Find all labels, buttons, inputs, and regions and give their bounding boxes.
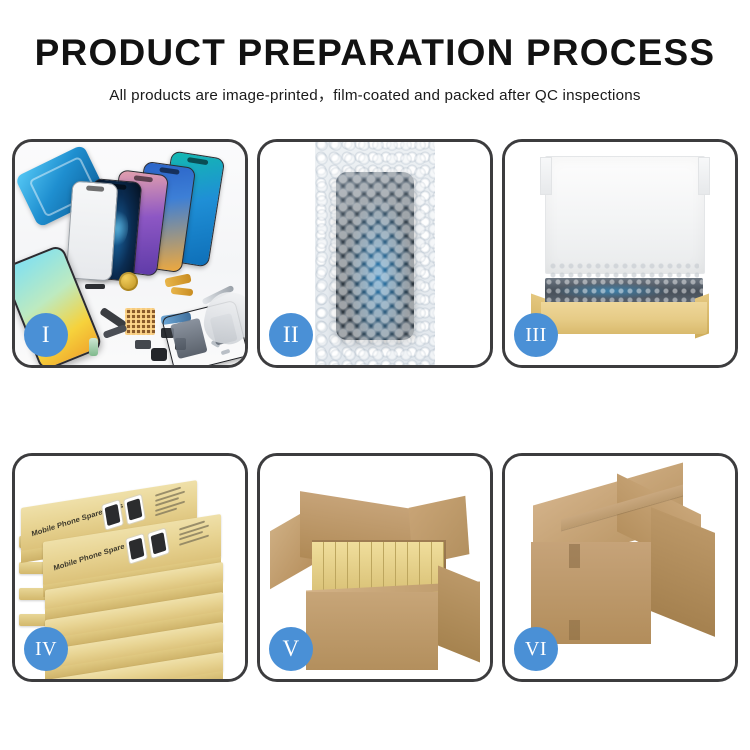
part-speaker-coil	[119, 272, 138, 291]
step-panel-1: I	[12, 139, 248, 368]
step-panel-2: II	[257, 139, 493, 368]
kraft-box-top-phone-image-2	[123, 493, 146, 525]
carton-front-face	[306, 592, 438, 670]
carton-seam-bottom	[569, 620, 580, 640]
page-subtitle: All products are image-printed，film-coat…	[0, 83, 750, 105]
kraft-box-second-phone-image-2	[147, 527, 170, 559]
product-preparation-infographic: PRODUCT PREPARATION PROCESS All products…	[0, 0, 750, 750]
carton-side-face	[438, 566, 480, 663]
phone-fan-group	[67, 152, 245, 272]
step-panel-3: III	[502, 139, 738, 368]
box-lid-open	[545, 156, 705, 274]
step-badge-2: II	[269, 313, 313, 357]
header: PRODUCT PREPARATION PROCESS All products…	[0, 0, 750, 105]
wrapped-items-in-box	[545, 278, 703, 304]
step-badge-5: V	[269, 627, 313, 671]
part-chip-grid	[125, 308, 155, 335]
screen-glass-panel	[66, 181, 119, 282]
part-camera-module	[151, 348, 167, 361]
sealed-carton-front-face	[531, 542, 651, 644]
part-earpiece-mesh	[85, 284, 105, 289]
step-panel-5: V	[257, 453, 493, 682]
step-badge-1: I	[24, 313, 68, 357]
process-step-grid: I II III	[12, 139, 738, 684]
box-front-wall	[541, 302, 707, 334]
carton-seam-top	[569, 544, 580, 568]
step-badge-6: VI	[514, 627, 558, 671]
part-battery-connector	[89, 338, 98, 356]
kraft-box-top-phone-image-1	[101, 499, 124, 531]
step-badge-4: IV	[24, 627, 68, 671]
wrapped-phone-item	[336, 172, 414, 340]
step-badge-3: III	[514, 313, 558, 357]
part-chip-small-2	[135, 340, 151, 349]
step-panel-4: Mobile Phone Spare Parts Mobile Phone Sp…	[12, 453, 248, 682]
kraft-box-second-phone-image-1	[125, 533, 148, 565]
step-panel-6: VI	[502, 453, 738, 682]
page-title: PRODUCT PREPARATION PROCESS	[0, 34, 750, 73]
